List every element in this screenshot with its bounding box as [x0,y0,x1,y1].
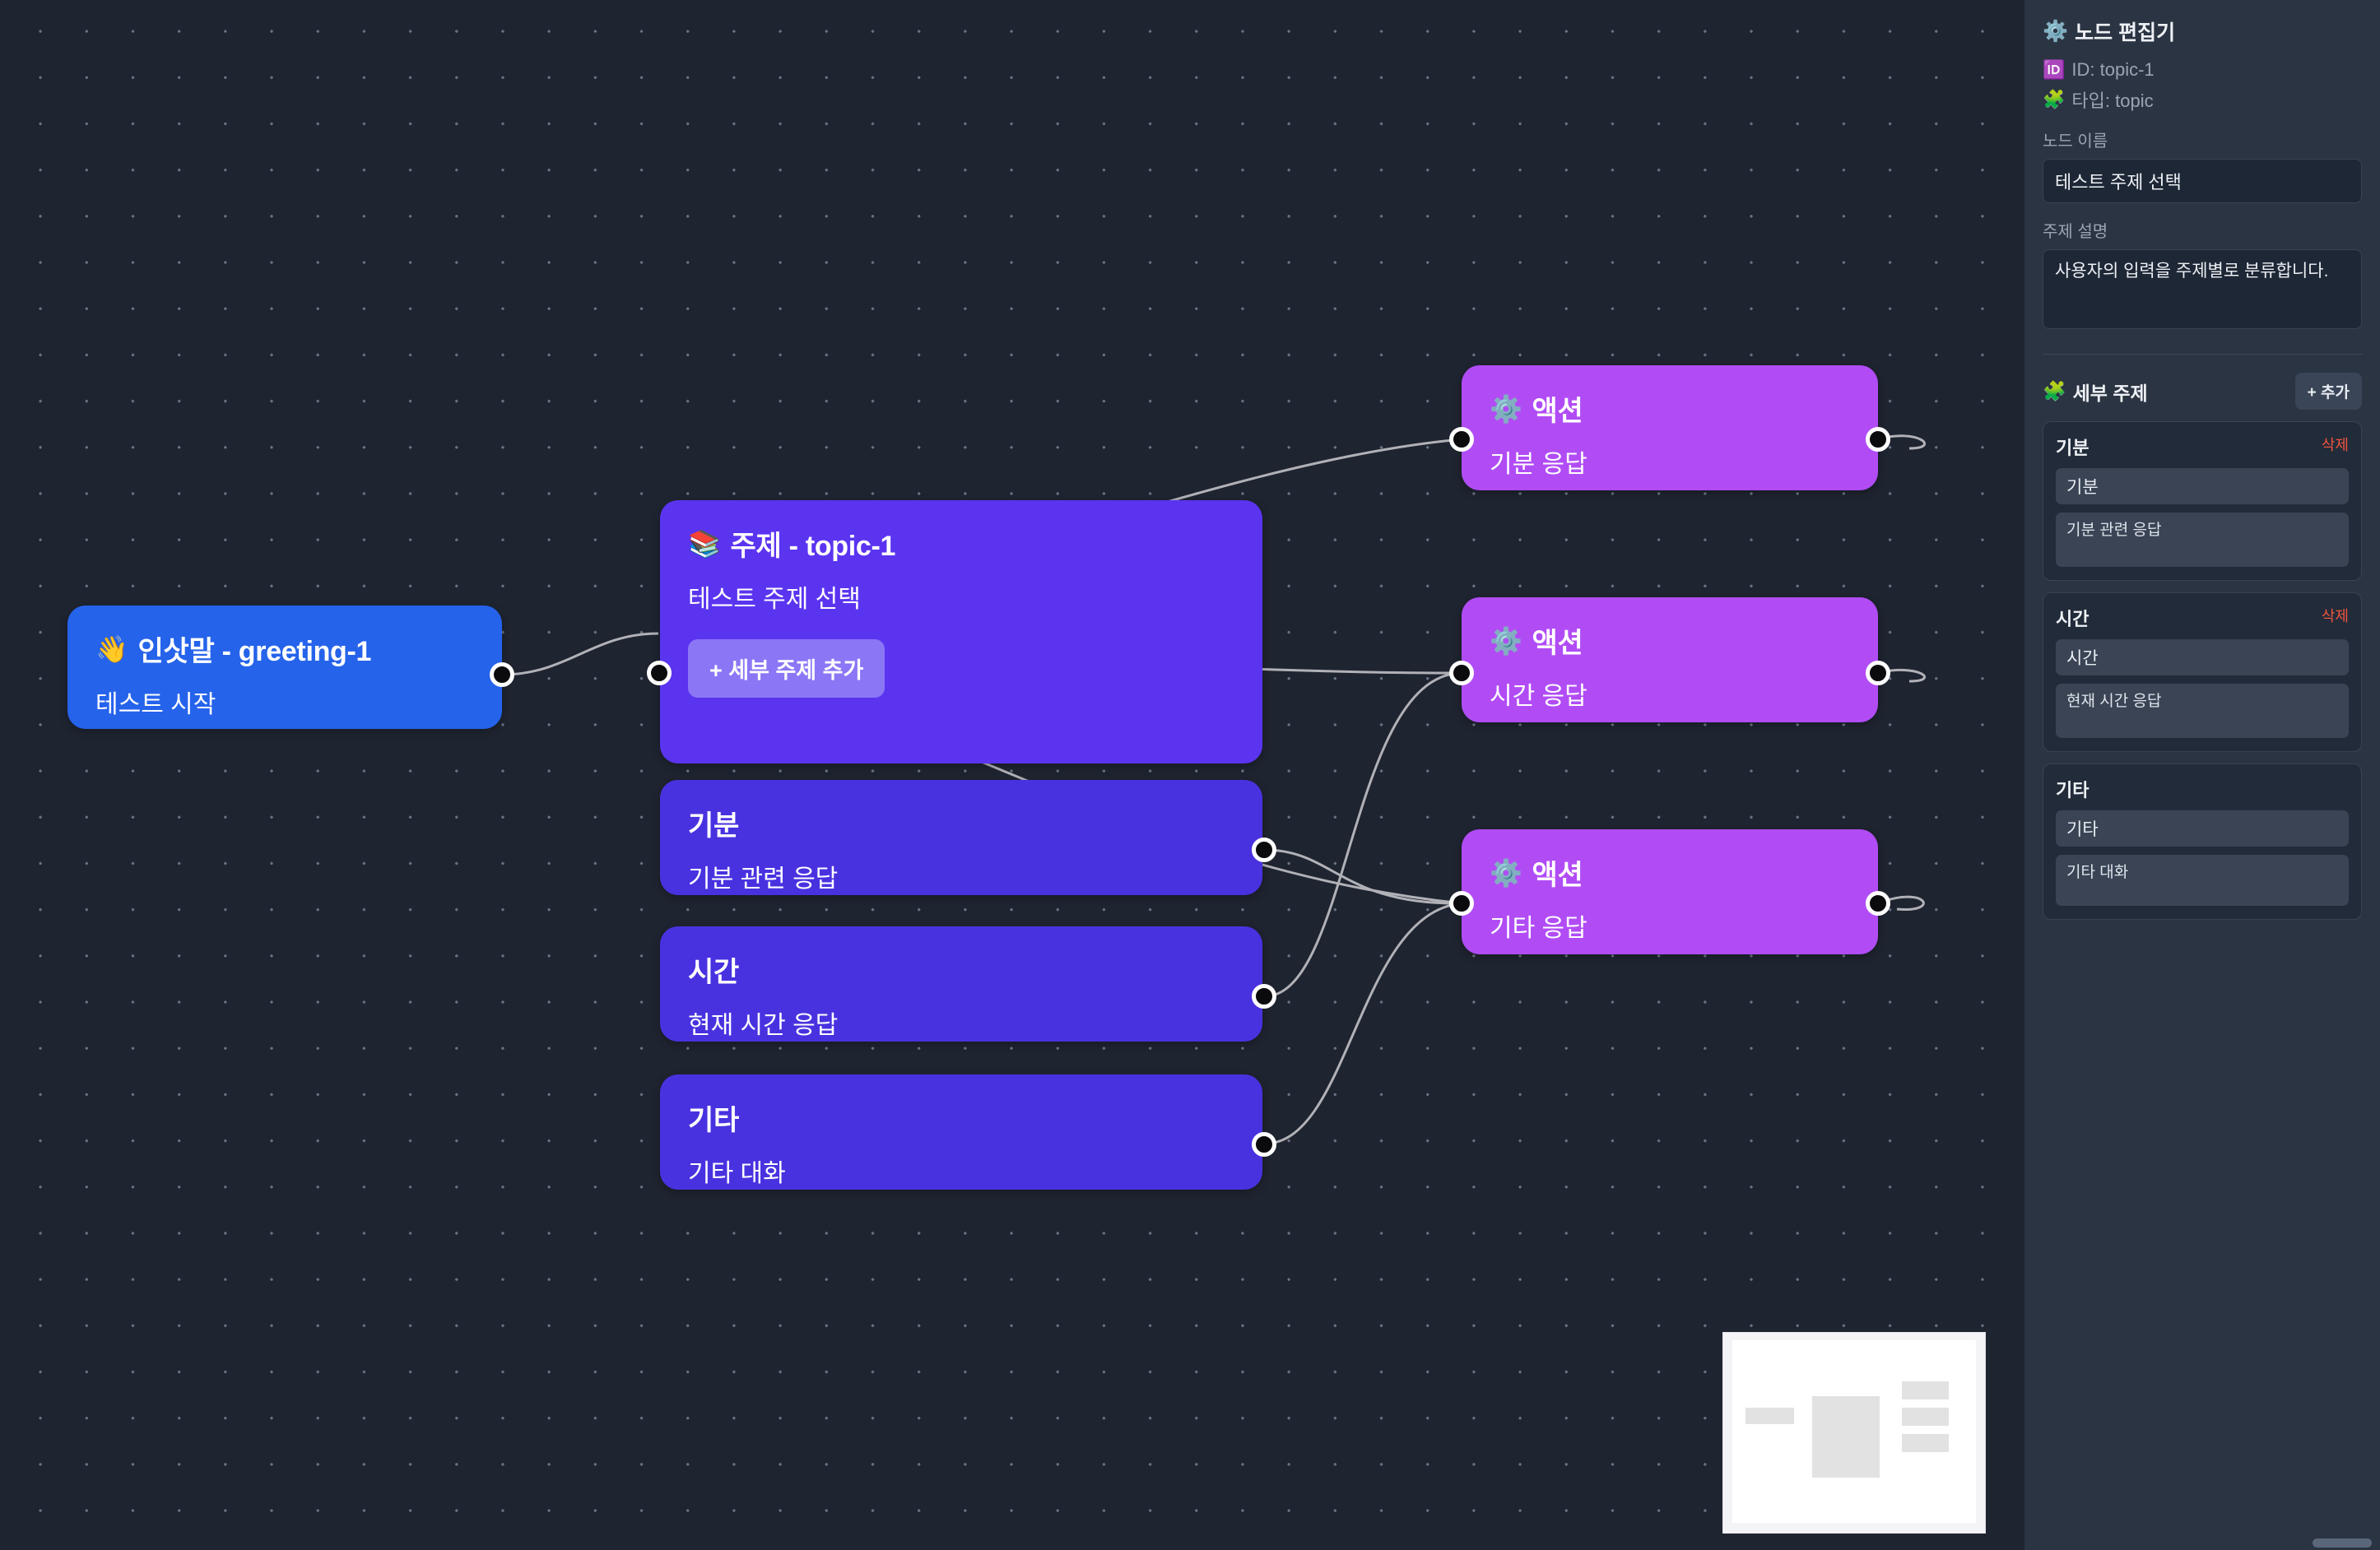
subtopic-name: 기분 [2056,434,2089,460]
minimap-node [1902,1434,1949,1452]
subtopic-card-header: 기분 삭제 [2056,434,2349,460]
subtopic-delete-link[interactable]: 삭제 [2322,434,2349,455]
panel-title-text: 노드 편집기 [2075,16,2175,46]
node-desc-label: 주제 설명 [2043,218,2362,242]
books-icon: 📚 [688,531,721,557]
edge-sub1-action3 [1265,850,1462,903]
node-id-text: ID: topic-1 [2071,59,2154,81]
node-subtitle: 테스트 시작 [95,684,474,720]
node-title-text: 인삿말 - greeting-1 [138,629,372,669]
node-subtitle: 기타 응답 [1490,907,1850,944]
flow-canvas[interactable]: 👋 인삿말 - greeting-1 테스트 시작 📚 주제 - topic-1… [0,0,2024,1550]
node-desc-textarea[interactable]: 사용자의 입력을 주제별로 분류합니다. [2043,249,2362,329]
panel-title: ⚙️ 노드 편집기 [2043,16,2362,46]
add-subtopic-button[interactable]: + 세부 주제 추가 [688,639,885,698]
subtopics-heading-text: 세부 주제 [2073,378,2148,406]
handle-action-mood-out[interactable] [1866,427,1890,452]
node-subtopic-time[interactable]: 시간 현재 시간 응답 [660,926,1262,1042]
scrollbar-thumb[interactable] [2313,1538,2372,1548]
node-name-input[interactable] [2043,159,2362,203]
handle-action-other-in[interactable] [1449,891,1474,916]
minimap-node [1902,1381,1949,1399]
node-subtopic-other[interactable]: 기타 기타 대화 [660,1074,1262,1190]
minimap-viewport [1732,1340,1976,1523]
subtopics-heading: 🧩 세부 주제 [2043,378,2148,406]
node-type-row: 🧩 타입: topic [2043,86,2362,113]
app-root: 👋 인삿말 - greeting-1 테스트 시작 📚 주제 - topic-1… [0,0,2380,1550]
node-subtitle: 기분 응답 [1490,443,1850,480]
node-subtitle: 시간 응답 [1490,675,1850,712]
node-title-text: 주제 - topic-1 [731,523,896,564]
minimap-node [1745,1408,1794,1424]
edge-sub2-action2 [1265,673,1462,996]
handle-action-mood-in[interactable] [1449,427,1474,452]
node-title-text: 액션 [1532,388,1583,429]
node-action-mood[interactable]: ⚙️ 액션 기분 응답 [1462,365,1878,490]
gear-icon: ⚙️ [1490,628,1522,654]
node-title: 👋 인삿말 - greeting-1 [95,629,474,669]
handle-action-time-out[interactable] [1866,661,1890,685]
edge-layer [0,0,2024,1550]
subtopic-card: 기타 기타 대화 [2043,763,2362,920]
node-title: 📚 주제 - topic-1 [688,523,1234,564]
minimap-node [1812,1396,1880,1478]
handle-action-time-in[interactable] [1449,661,1474,685]
node-title: 시간 [688,949,1234,990]
subtopic-card-header: 기타 [2056,776,2349,802]
node-title: ⚙️ 액션 [1490,620,1850,661]
node-action-time[interactable]: ⚙️ 액션 시간 응답 [1462,597,1878,722]
node-title: 기타 [688,1098,1234,1138]
gear-icon: ⚙️ [2043,20,2068,44]
subtopic-delete-link[interactable]: 삭제 [2322,605,2349,626]
subtopic-name: 기타 [2056,776,2089,802]
node-title-text: 액션 [1532,852,1583,893]
node-title: 기분 [688,803,1234,843]
edge-sub3-action3 [1265,903,1462,1144]
wave-icon: 👋 [95,636,128,662]
handle-topic-in[interactable] [647,661,672,685]
handle-greeting-out[interactable] [490,662,514,687]
subtopic-keyword-input[interactable] [2056,639,2349,675]
node-title: ⚙️ 액션 [1490,388,1850,429]
panel-scrollbar[interactable] [2024,1535,2380,1550]
subtopic-name: 시간 [2056,605,2089,631]
node-subtopic-mood[interactable]: 기분 기분 관련 응답 [660,780,1262,895]
gear-icon: ⚙️ [1490,860,1522,886]
subtopic-response-textarea[interactable]: 기타 대화 [2056,855,2349,906]
edge-greeting-topic [502,633,658,675]
node-title-text: 액션 [1532,620,1583,661]
node-subtitle: 현재 시간 응답 [688,1005,1234,1041]
node-subtitle: 기타 대화 [688,1153,1234,1189]
node-subtitle: 테스트 주제 선택 [688,578,1234,615]
puzzle-icon: 🧩 [2043,89,2065,110]
node-id-row: 🆔 ID: topic-1 [2043,59,2362,81]
subtopic-response-textarea[interactable]: 현재 시간 응답 [2056,684,2349,738]
minimap-node [1902,1408,1949,1426]
node-action-other[interactable]: ⚙️ 액션 기타 응답 [1462,829,1878,954]
subtopic-keyword-input[interactable] [2056,810,2349,847]
minimap[interactable] [1722,1332,1986,1534]
handle-subtopic-other-out[interactable] [1252,1132,1276,1157]
handle-subtopic-mood-out[interactable] [1252,838,1276,862]
subtopic-card: 시간 삭제 현재 시간 응답 [2043,592,2362,752]
puzzle-icon: 🧩 [2043,380,2066,402]
handle-action-other-out[interactable] [1866,891,1890,916]
node-type-text: 타입: topic [2071,86,2153,113]
node-greeting-1[interactable]: 👋 인삿말 - greeting-1 테스트 시작 [67,606,502,729]
id-icon: 🆔 [2043,59,2065,81]
subtopic-card-header: 시간 삭제 [2056,605,2349,631]
subtopic-card: 기분 삭제 기분 관련 응답 [2043,421,2362,581]
subtopics-header: 🧩 세부 주제 + 추가 [2043,373,2362,410]
subtopic-keyword-input[interactable] [2056,468,2349,504]
subtopic-response-textarea[interactable]: 기분 관련 응답 [2056,513,2349,567]
node-editor-panel: ⚙️ 노드 편집기 🆔 ID: topic-1 🧩 타입: topic 노드 이… [2024,0,2380,1550]
node-topic-1[interactable]: 📚 주제 - topic-1 테스트 주제 선택 + 세부 주제 추가 [660,500,1262,763]
gear-icon: ⚙️ [1490,396,1522,422]
add-subtopic-button[interactable]: + 추가 [2295,373,2362,410]
node-subtitle: 기분 관련 응답 [688,858,1234,894]
node-title: ⚙️ 액션 [1490,852,1850,893]
node-name-label: 노드 이름 [2043,128,2362,151]
panel-divider [2043,354,2362,355]
handle-subtopic-time-out[interactable] [1252,984,1276,1009]
